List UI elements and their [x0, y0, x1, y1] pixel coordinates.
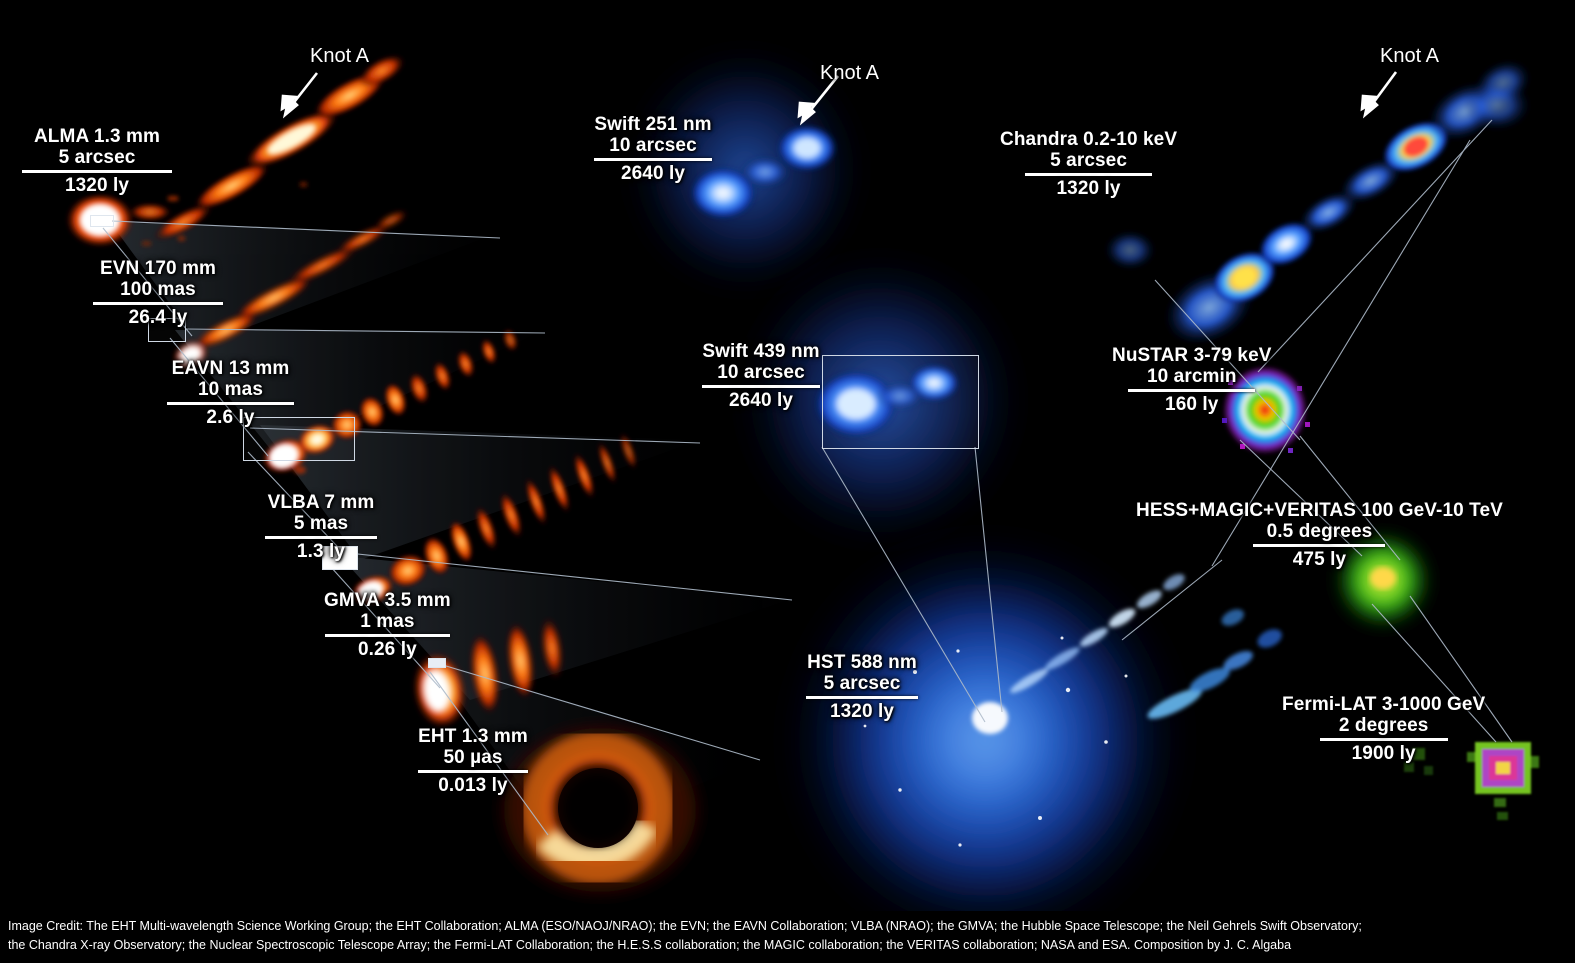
instrument-name: ALMA 1.3 mm — [22, 126, 172, 147]
scale-bar — [1025, 173, 1152, 176]
scale-bar — [418, 770, 528, 773]
angular-scale: 2 degrees — [1282, 715, 1485, 736]
figure-canvas: ALMA 1.3 mm 5 arcsec 1320 ly EVN 170 mm … — [0, 0, 1575, 963]
scale-bar — [265, 536, 377, 539]
scale-bar — [167, 402, 294, 405]
instrument-name: Chandra 0.2-10 keV — [1000, 129, 1177, 150]
credit-line-2: the Chandra X-ray Observatory; the Nucle… — [8, 936, 1567, 955]
image-credit: Image Credit: The EHT Multi-wavelength S… — [0, 911, 1575, 963]
knot-a-arrow-alma — [282, 73, 317, 115]
zoom-box-alma — [90, 215, 114, 227]
physical-scale: 1320 ly — [22, 175, 172, 196]
scale-bar — [1128, 389, 1255, 392]
instrument-name: EAVN 13 mm — [167, 358, 294, 379]
zoom-box-swift439 — [822, 355, 979, 449]
angular-scale: 5 mas — [265, 513, 377, 534]
scale-bar — [1253, 544, 1385, 547]
physical-scale: 475 ly — [1136, 549, 1503, 570]
instrument-name: GMVA 3.5 mm — [324, 590, 451, 611]
panel-label-eht: EHT 1.3 mm 50 µas 0.013 ly — [418, 726, 528, 796]
physical-scale: 1900 ly — [1282, 743, 1485, 764]
physical-scale: 1320 ly — [1000, 178, 1177, 199]
panel-label-nustar: NuSTAR 3-79 keV 10 arcmin 160 ly — [1112, 345, 1272, 415]
physical-scale: 1.3 ly — [265, 541, 377, 562]
scale-bar — [702, 385, 820, 388]
knot-a-label-swift: Knot A — [820, 62, 879, 85]
physical-scale: 160 ly — [1112, 394, 1272, 415]
physical-scale: 26.4 ly — [93, 307, 223, 328]
composite-imagery — [0, 0, 1575, 963]
scale-bar — [325, 634, 450, 637]
angular-scale: 5 arcsec — [1000, 150, 1177, 171]
angular-scale: 1 mas — [324, 611, 451, 632]
instrument-name: Swift 251 nm — [594, 114, 712, 135]
physical-scale: 0.26 ly — [324, 639, 451, 660]
physical-scale: 2640 ly — [594, 163, 712, 184]
angular-scale: 10 mas — [167, 379, 294, 400]
scale-bar — [594, 158, 712, 161]
angular-scale: 50 µas — [418, 747, 528, 768]
panel-label-chandra: Chandra 0.2-10 keV 5 arcsec 1320 ly — [1000, 129, 1177, 199]
panel-label-eavn: EAVN 13 mm 10 mas 2.6 ly — [167, 358, 294, 428]
instrument-name: VLBA 7 mm — [265, 492, 377, 513]
credit-line-1: Image Credit: The EHT Multi-wavelength S… — [8, 917, 1567, 936]
physical-scale: 2640 ly — [702, 390, 820, 411]
angular-scale: 5 arcsec — [806, 673, 918, 694]
instrument-name: EHT 1.3 mm — [418, 726, 528, 747]
panel-label-swift251: Swift 251 nm 10 arcsec 2640 ly — [594, 114, 712, 184]
scale-bar — [22, 170, 172, 173]
panel-label-vlba: VLBA 7 mm 5 mas 1.3 ly — [265, 492, 377, 562]
angular-scale: 0.5 degrees — [1136, 521, 1503, 542]
panel-image-eht — [504, 728, 696, 892]
scale-bar — [93, 302, 223, 305]
angular-scale: 5 arcsec — [22, 147, 172, 168]
physical-scale: 0.013 ly — [418, 775, 528, 796]
panel-label-iact: HESS+MAGIC+VERITAS 100 GeV-10 TeV 0.5 de… — [1136, 500, 1503, 570]
panel-label-fermi: Fermi-LAT 3-1000 GeV 2 degrees 1900 ly — [1282, 694, 1485, 764]
instrument-name: HST 588 nm — [806, 652, 918, 673]
panel-label-alma: ALMA 1.3 mm 5 arcsec 1320 ly — [22, 126, 172, 196]
knot-a-label-alma: Knot A — [310, 45, 369, 68]
angular-scale: 10 arcsec — [594, 135, 712, 156]
physical-scale: 1320 ly — [806, 701, 918, 722]
instrument-name: HESS+MAGIC+VERITAS 100 GeV-10 TeV — [1136, 500, 1503, 521]
panel-image-chandra — [1104, 50, 1573, 360]
physical-scale: 2.6 ly — [167, 407, 294, 428]
angular-scale: 10 arcsec — [702, 362, 820, 383]
instrument-name: Swift 439 nm — [702, 341, 820, 362]
instrument-name: NuSTAR 3-79 keV — [1112, 345, 1272, 366]
panel-label-evn: EVN 170 mm 100 mas 26.4 ly — [93, 258, 223, 328]
panel-label-gmva: GMVA 3.5 mm 1 mas 0.26 ly — [324, 590, 451, 660]
angular-scale: 100 mas — [93, 279, 223, 300]
scale-bar — [1320, 738, 1448, 741]
panel-label-swift439: Swift 439 nm 10 arcsec 2640 ly — [702, 341, 820, 411]
scale-bar — [806, 696, 918, 699]
angular-scale: 10 arcmin — [1112, 366, 1272, 387]
instrument-name: Fermi-LAT 3-1000 GeV — [1282, 694, 1485, 715]
instrument-name: EVN 170 mm — [93, 258, 223, 279]
panel-label-hst: HST 588 nm 5 arcsec 1320 ly — [806, 652, 918, 722]
knot-a-label-chandra: Knot A — [1380, 45, 1439, 68]
knot-a-arrow-chandra — [1362, 72, 1396, 115]
